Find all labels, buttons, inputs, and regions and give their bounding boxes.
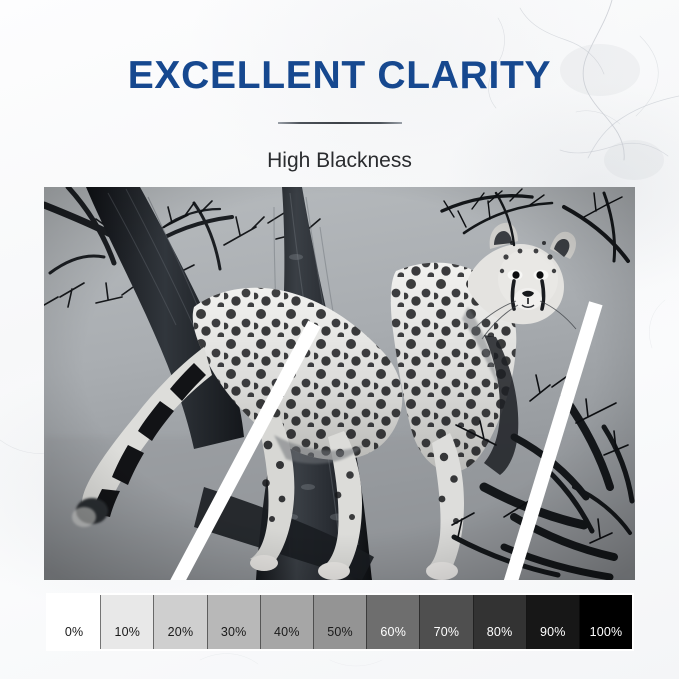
swatch-50: 50% [313,595,366,649]
swatch-label-70: 70% [434,626,460,650]
swatch-30: 30% [207,595,260,649]
title-divider [278,122,402,124]
swatch-label-0: 0% [65,626,83,650]
header: EXCELLENT CLARITY High Blackness [0,0,679,187]
swatch-label-10: 10% [114,626,140,650]
swatch-80: 80% [473,595,526,649]
swatch-label-80: 80% [487,626,513,650]
swatch-40: 40% [260,595,313,649]
swatch-90: 90% [526,595,579,649]
swatch-70: 70% [419,595,472,649]
grayscale-bar: 0% 10% 20% 30% 40% 50% 60% 70% 80% 90% 1 [46,593,634,651]
photo-image [44,187,635,580]
swatch-20: 20% [153,595,206,649]
page-title: EXCELLENT CLARITY [0,56,679,95]
swatch-label-40: 40% [274,626,300,650]
swatch-label-90: 90% [540,626,566,650]
swatch-60: 60% [366,595,419,649]
swatch-label-20: 20% [168,626,194,650]
swatch-label-50: 50% [327,626,353,650]
swatch-label-30: 30% [221,626,247,650]
swatch-0: 0% [48,595,100,649]
promo-banner: EXCELLENT CLARITY High Blackness [0,0,679,679]
page-subtitle: High Blackness [0,149,679,173]
swatch-label-60: 60% [380,626,406,650]
cheetah-photo [44,187,635,580]
swatch-100: 100% [579,595,632,649]
swatch-10: 10% [100,595,153,649]
swatch-label-100: 100% [590,626,623,650]
